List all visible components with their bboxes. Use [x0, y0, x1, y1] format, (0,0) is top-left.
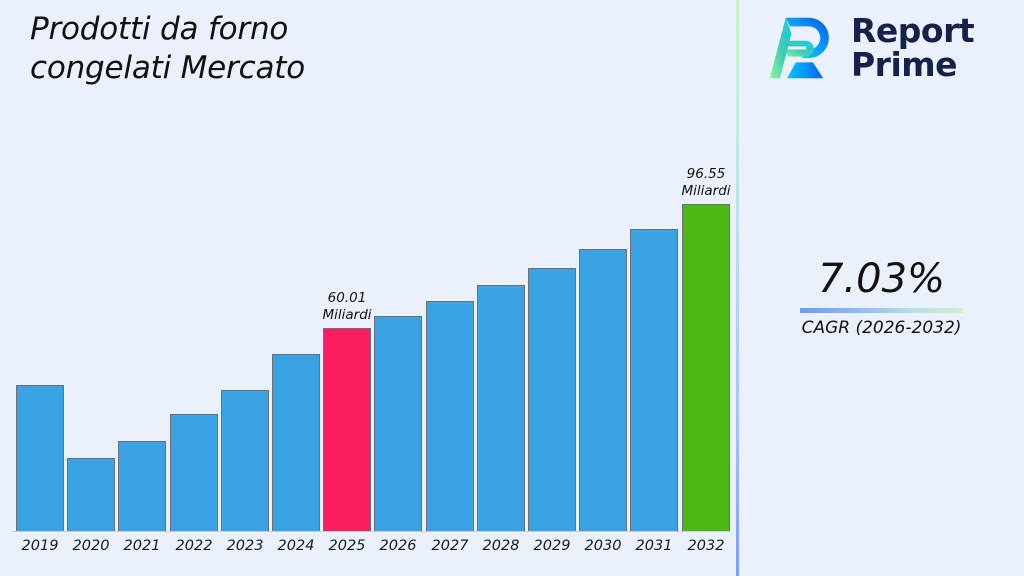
bar-2020 [67, 458, 115, 531]
bar-2021 [118, 441, 166, 531]
bar-2026 [374, 316, 422, 531]
chart-plot-area: 60.01 Miliardi96.55 Miliardi 20192020202… [0, 0, 737, 576]
bar-2031 [630, 229, 678, 531]
x-tick-2025: 2025 [320, 538, 374, 554]
bar-2025 [323, 328, 371, 531]
chart-page: Prodotti da forno congelati Mercato 60.0… [0, 0, 1024, 576]
x-tick-2028: 2028 [474, 538, 528, 554]
cagr-block: 7.03% CAGR (2026-2032) [739, 255, 1024, 339]
bar-2028 [477, 285, 525, 531]
bar-2030 [579, 249, 627, 531]
report-prime-mark-icon [767, 12, 839, 84]
x-tick-2023: 2023 [218, 538, 272, 554]
x-tick-2020: 2020 [64, 538, 118, 554]
x-tick-2021: 2021 [115, 538, 169, 554]
x-tick-2031: 2031 [627, 538, 681, 554]
x-tick-2027: 2027 [423, 538, 477, 554]
bar-2023 [221, 390, 269, 531]
x-tick-2024: 2024 [269, 538, 323, 554]
x-tick-2030: 2030 [576, 538, 630, 554]
cagr-divider [800, 308, 963, 313]
x-tick-2032: 2032 [679, 538, 733, 554]
bar-2032 [682, 204, 730, 531]
bar-2019 [16, 385, 64, 531]
x-tick-2019: 2019 [13, 538, 67, 554]
x-tick-2029: 2029 [525, 538, 579, 554]
cagr-value: 7.03% [739, 255, 1024, 303]
bar-2024 [272, 354, 320, 531]
x-axis-line [12, 531, 730, 532]
brand-name: Report Prime [851, 14, 974, 82]
cagr-caption: CAGR (2026-2032) [739, 317, 1024, 339]
right-panel: Report Prime 7.03% CAGR (2026-2032) [739, 0, 1024, 576]
x-tick-2022: 2022 [167, 538, 221, 554]
bar-2022 [170, 414, 218, 531]
brand-logo: Report Prime [767, 12, 974, 84]
bar-2029 [528, 268, 576, 531]
bar-2027 [426, 301, 474, 531]
x-tick-2026: 2026 [371, 538, 425, 554]
